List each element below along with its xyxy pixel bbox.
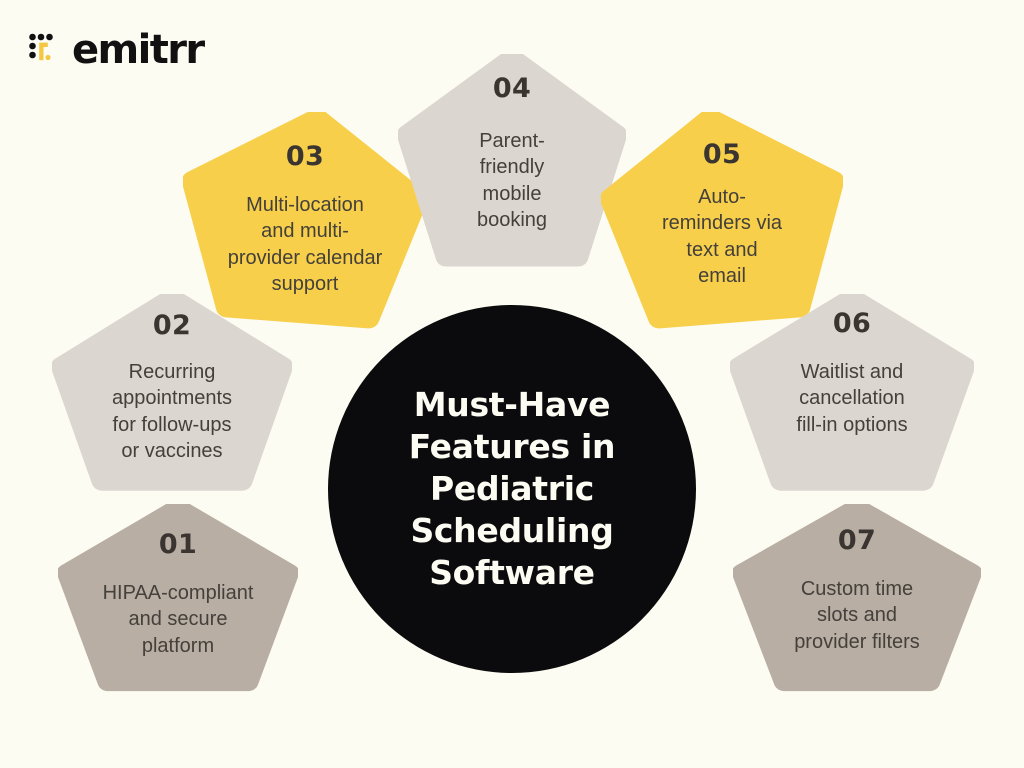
step-text-04: Parent- friendly mobile booking [477,128,547,234]
step-text-02: Recurring appointments for follow-ups or… [112,359,232,465]
step-number-05: 05 [703,141,741,168]
step-text-05: Auto- reminders via text and email [662,184,782,290]
brand-logo: emitrr [28,26,204,72]
step-number-06: 06 [833,310,871,337]
step-card-03[interactable]: 03 Multi-location and multi- provider ca… [183,112,427,334]
step-card-04[interactable]: 04 Parent- friendly mobile booking [398,54,626,272]
step-card-06[interactable]: 06 Waitlist and cancellation fill-in opt… [730,294,974,500]
step-number-01: 01 [159,531,197,558]
step-text-07: Custom time slots and provider filters [794,576,920,655]
infographic-canvas: emitrr 01 HIPAA-compliant and secure pla… [0,0,1024,768]
brand-name: emitrr [72,30,204,70]
emitrr-logo-icon [28,32,62,66]
center-hub: Must-Have Features in Pediatric Scheduli… [328,305,696,673]
step-number-04: 04 [493,75,531,102]
step-card-01[interactable]: 01 HIPAA-compliant and secure platform [58,504,298,700]
step-text-01: HIPAA-compliant and secure platform [103,580,254,659]
step-text-06: Waitlist and cancellation fill-in option… [796,359,907,438]
step-card-07[interactable]: 07 Custom time slots and provider filter… [733,504,981,700]
step-text-03: Multi-location and multi- provider calen… [228,192,383,298]
page-title: Must-Have Features in Pediatric Scheduli… [375,384,649,594]
step-number-03: 03 [286,143,324,170]
step-number-07: 07 [838,527,876,554]
